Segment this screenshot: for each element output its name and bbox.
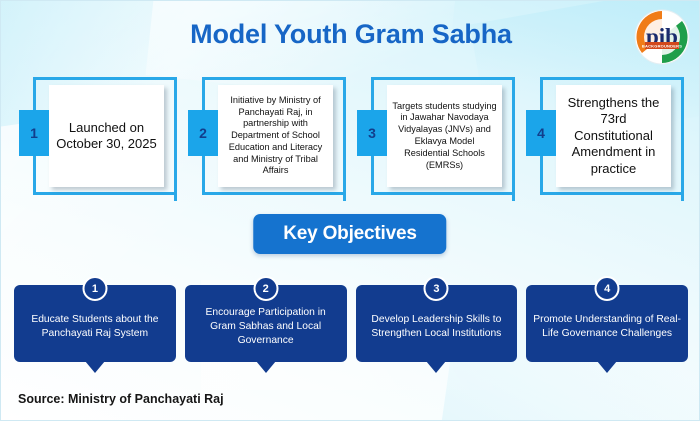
objective-text: Develop Leadership Skills to Strengthen … — [363, 313, 511, 340]
infographic-root: Model Youth Gram Sabha pib BACKGROUNDERS… — [0, 0, 700, 421]
objective-text: Educate Students about the Panchayati Ra… — [21, 313, 169, 340]
feature-card-body: Launched on October 30, 2025 — [49, 85, 164, 187]
feature-number-badge: 1 — [19, 110, 49, 156]
objective-text: Promote Understanding of Real-Life Gover… — [533, 313, 681, 340]
feature-card-4[interactable]: Strengthens the 73rd Constitutional Amen… — [522, 77, 687, 195]
feature-card-2[interactable]: Initiative by Ministry of Panchayati Raj… — [184, 77, 349, 195]
feature-number-badge: 2 — [188, 110, 218, 156]
objective-card-list: Educate Students about the Panchayati Ra… — [14, 276, 688, 371]
feature-text: Initiative by Ministry of Panchayati Raj… — [223, 95, 328, 177]
pib-backgrounders-logo: pib BACKGROUNDERS — [634, 9, 690, 65]
feature-text: Launched on October 30, 2025 — [54, 120, 159, 153]
objective-number-badge: 1 — [82, 276, 107, 301]
feature-card-body: Initiative by Ministry of Panchayati Raj… — [218, 85, 333, 187]
header: Model Youth Gram Sabha pib BACKGROUNDERS — [1, 1, 700, 69]
objective-text: Encourage Participation in Gram Sabhas a… — [192, 306, 340, 347]
feature-card-3[interactable]: Targets students studying in Jawahar Nav… — [353, 77, 518, 195]
objective-number-badge: 4 — [595, 276, 620, 301]
objective-card-4[interactable]: Promote Understanding of Real-Life Gover… — [526, 276, 688, 371]
feature-text: Strengthens the 73rd Constitutional Amen… — [561, 95, 666, 177]
feature-card-body: Strengthens the 73rd Constitutional Amen… — [556, 85, 671, 187]
feature-card-body: Targets students studying in Jawahar Nav… — [387, 85, 502, 187]
page-title: Model Youth Gram Sabha — [1, 19, 700, 50]
feature-number-badge: 3 — [357, 110, 387, 156]
objective-number-badge: 3 — [424, 276, 449, 301]
feature-number-badge: 4 — [526, 110, 556, 156]
objective-card-3[interactable]: Develop Leadership Skills to Strengthen … — [356, 276, 518, 371]
svg-text:BACKGROUNDERS: BACKGROUNDERS — [642, 44, 682, 49]
key-objectives-banner: Key Objectives — [253, 214, 446, 254]
feature-text: Targets students studying in Jawahar Nav… — [392, 101, 497, 172]
objective-card-2[interactable]: Encourage Participation in Gram Sabhas a… — [185, 276, 347, 371]
feature-card-1[interactable]: Launched on October 30, 2025 1 — [15, 77, 180, 195]
objective-number-badge: 2 — [253, 276, 278, 301]
objective-card-1[interactable]: Educate Students about the Panchayati Ra… — [14, 276, 176, 371]
source-label: Source: Ministry of Panchayati Raj — [18, 392, 224, 406]
feature-card-list: Launched on October 30, 2025 1 Initiativ… — [15, 77, 687, 195]
